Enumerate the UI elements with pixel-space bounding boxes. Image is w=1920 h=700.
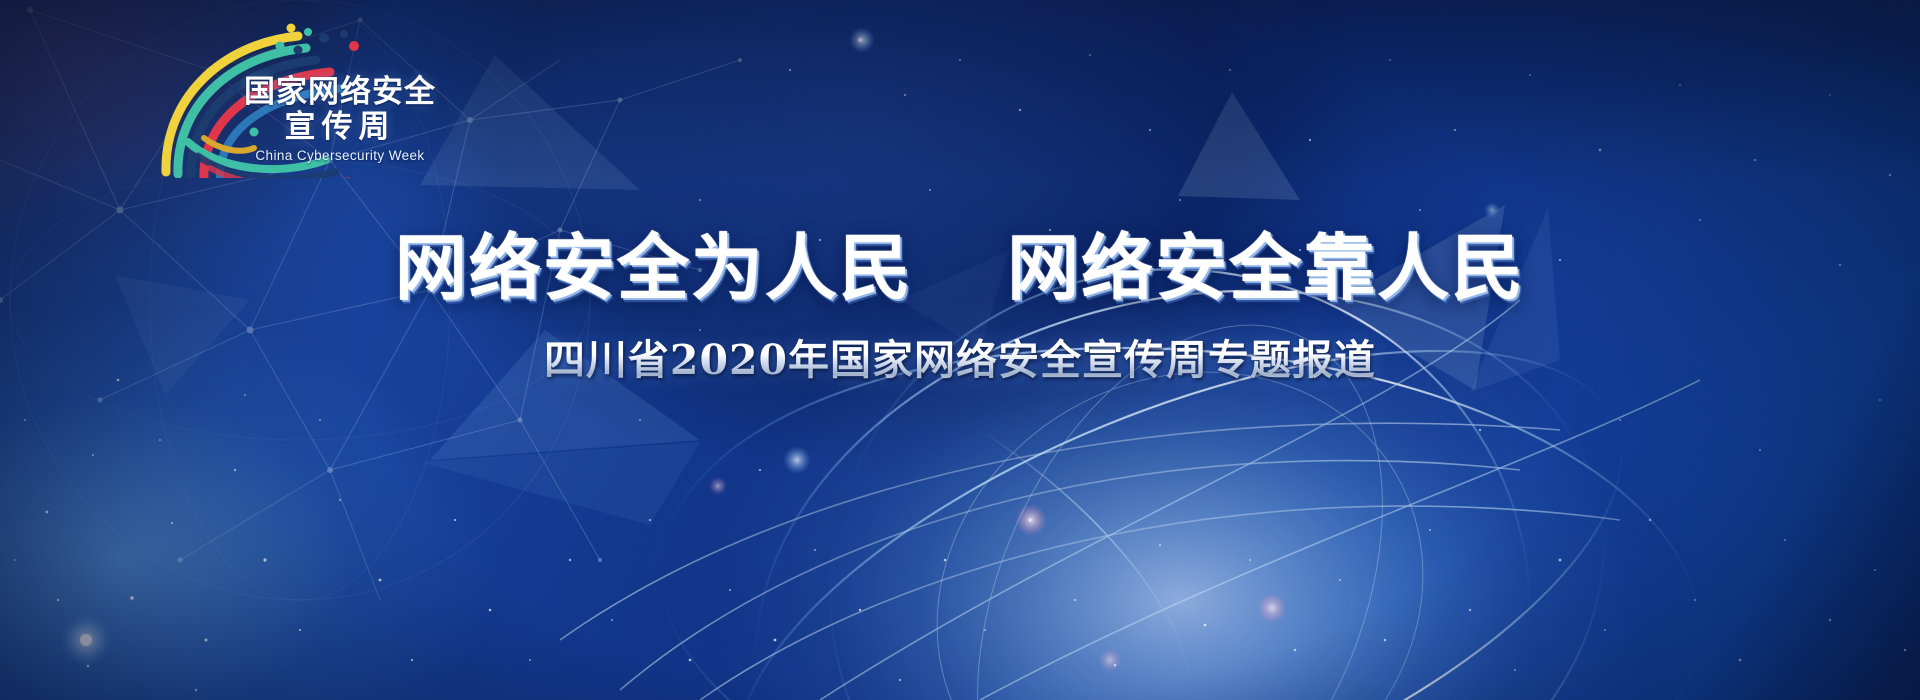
logo-chinese-text: 国家网络安全 宣传周 bbox=[222, 74, 458, 144]
logo-chinese-line1: 国家网络安全 bbox=[244, 74, 436, 109]
headline-part-2: 网络安全靠人民 bbox=[1007, 226, 1525, 310]
logo-english-text: China Cybersecurity Week bbox=[222, 148, 458, 163]
logo-chinese-line2: 宣传周 bbox=[222, 109, 458, 144]
headline-part-1: 网络安全为人民 bbox=[395, 226, 913, 310]
banner-subtitle: 四川省2020年国家网络安全宣传周专题报道 bbox=[0, 334, 1920, 386]
china-cybersecurity-week-logo: 国家网络安全 宣传周 China Cybersecurity Week bbox=[158, 22, 458, 178]
cybersecurity-week-banner: 国家网络安全 宣传周 China Cybersecurity Week 网络安全… bbox=[0, 0, 1920, 700]
banner-headline: 网络安全为人民 网络安全靠人民 bbox=[0, 228, 1920, 308]
